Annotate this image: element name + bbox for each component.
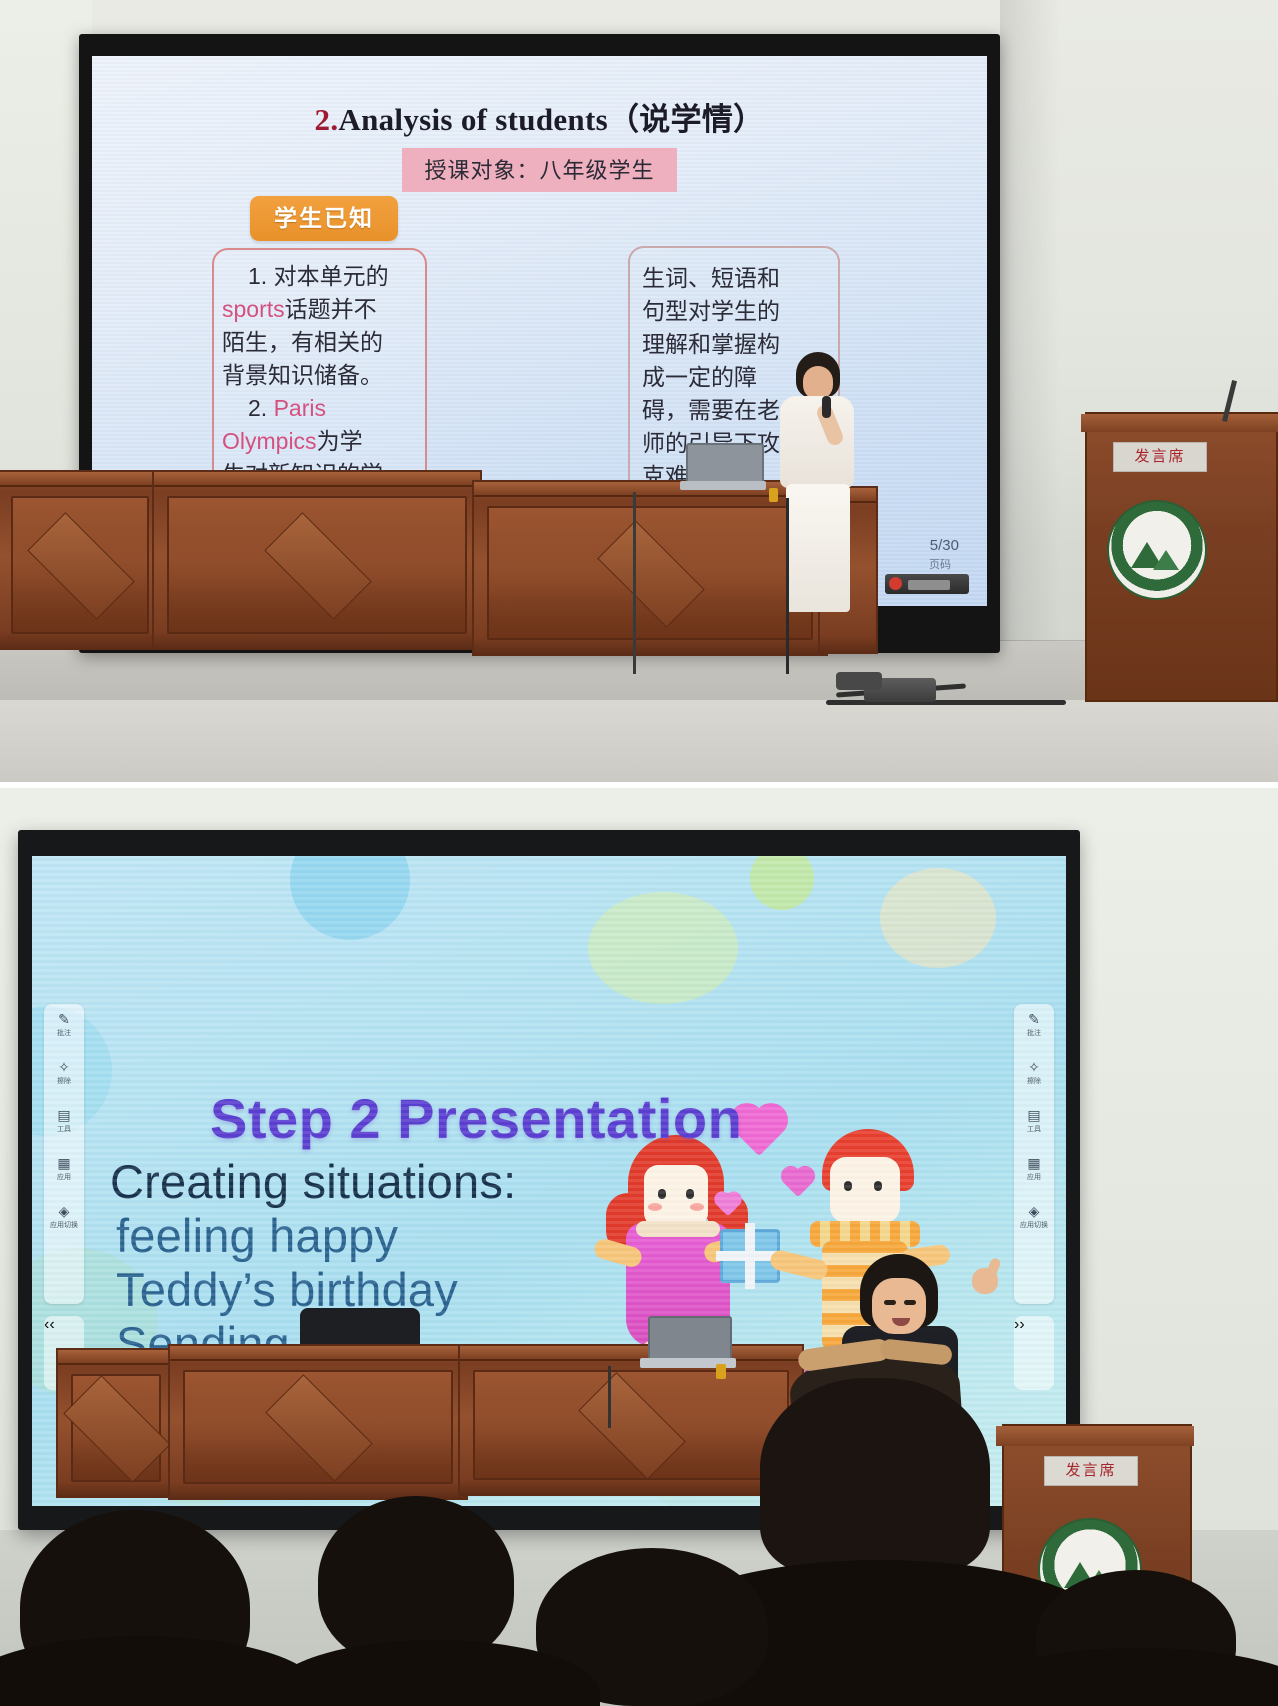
desk-front-panel <box>71 1374 161 1482</box>
laptop-base <box>680 481 766 490</box>
crest-mountain-icon <box>1153 550 1179 570</box>
desk-diamond-inlay <box>63 1375 170 1482</box>
desk-unit <box>152 470 482 650</box>
desk-diamond-inlay <box>27 512 134 619</box>
left-box-line: sports话题并不 <box>222 293 417 326</box>
presenting-teacher <box>772 352 858 652</box>
photo-collage-page: 2.Analysis of students（说学情） 授课对象：八年级学生 学… <box>0 0 1278 1706</box>
school-crest-icon <box>1107 500 1207 600</box>
podium-sign: 发言席 <box>1113 442 1207 472</box>
slide-page-indicator: 5/30 <box>930 537 959 554</box>
teacher-mouth <box>892 1318 910 1326</box>
wall-shadow <box>1000 0 1060 660</box>
power-cable <box>608 1366 611 1428</box>
slide-one-title-cn: （说学情） <box>608 102 765 137</box>
slide-one-title-en: Analysis of students <box>338 102 608 137</box>
desk-front-panel <box>473 1370 789 1480</box>
audience-head <box>760 1378 990 1574</box>
classroom-floor-front <box>0 700 1278 782</box>
highlight-olympics: Olympics <box>222 428 317 454</box>
speaker-podium: 发言席 <box>1085 412 1278 702</box>
laptop-screen <box>686 443 764 485</box>
desk-top <box>170 1346 466 1361</box>
teacher-eye <box>884 1300 896 1305</box>
desk-unit <box>0 470 164 650</box>
power-cable <box>633 492 636 674</box>
highlight-paris: Paris <box>274 395 326 421</box>
podium-sign: 发言席 <box>1044 1456 1138 1486</box>
desk-unit <box>168 1344 468 1500</box>
teacher-skirt <box>786 484 850 612</box>
right-box-line: 生词、短语和 <box>642 262 828 295</box>
desk-front-panel <box>167 496 467 634</box>
podium-top <box>996 1426 1194 1446</box>
teacher-eye <box>904 1300 916 1305</box>
left-box-line: 背景知识储备。 <box>222 359 417 392</box>
desk-diamond-inlay <box>264 512 371 619</box>
left-box-line: 陌生，有相关的 <box>222 326 417 359</box>
record-dot-icon <box>889 577 902 590</box>
desk-top <box>0 472 162 487</box>
handheld-microphone-icon <box>822 396 831 418</box>
presenter-laptop <box>680 443 766 493</box>
desk-top <box>58 1350 174 1365</box>
teacher-face <box>872 1278 926 1334</box>
desk-unit <box>56 1348 176 1498</box>
desk-diamond-inlay <box>597 520 704 627</box>
tray-bar-icon <box>908 580 950 590</box>
teacher-face <box>803 366 833 400</box>
desk-top <box>154 472 480 487</box>
left-box-line: Olympics为学 <box>222 425 417 458</box>
desk-unit <box>458 1344 804 1496</box>
podium-sign-label: 发言席 <box>1114 443 1206 471</box>
pointing-finger-icon <box>984 1257 1002 1281</box>
desk-front-panel <box>11 496 149 634</box>
desk-front-panel <box>487 506 813 640</box>
desk-diamond-inlay <box>578 1372 685 1479</box>
left-box-line: 2. Paris <box>222 392 417 425</box>
left-box-line: 1. 对本单元的 <box>222 260 417 293</box>
podium-top <box>1081 414 1278 432</box>
slide-one-title-number: 2. <box>315 102 339 137</box>
highlight-sports: sports <box>222 296 285 322</box>
known-students-badge: 学生已知 <box>250 196 398 241</box>
podium-sign-label: 发言席 <box>1045 1457 1137 1485</box>
desk-top <box>460 1346 802 1361</box>
laptop-screen <box>648 1316 732 1362</box>
slide-one-subtitle: 授课对象：八年级学生 <box>402 148 676 192</box>
desk-front-panel <box>183 1370 453 1484</box>
slide-one-subtitle-wrap: 授课对象：八年级学生 <box>92 148 987 192</box>
floor-cable <box>826 700 1066 705</box>
microphone-stand <box>716 1364 726 1379</box>
right-box-line: 句型对学生的 <box>642 295 828 328</box>
panel-one-photo: 2.Analysis of students（说学情） 授课对象：八年级学生 学… <box>0 0 1278 782</box>
known-students-badge-label: 学生已知 <box>250 196 398 241</box>
desk-diamond-inlay <box>265 1374 372 1481</box>
slide-one-title: 2.Analysis of students（说学情） <box>92 94 987 139</box>
power-cable <box>786 498 789 674</box>
screen-control-tray[interactable] <box>885 574 969 594</box>
slide-page-sublabel: 页码 <box>929 556 951 572</box>
power-adapter <box>836 672 882 690</box>
